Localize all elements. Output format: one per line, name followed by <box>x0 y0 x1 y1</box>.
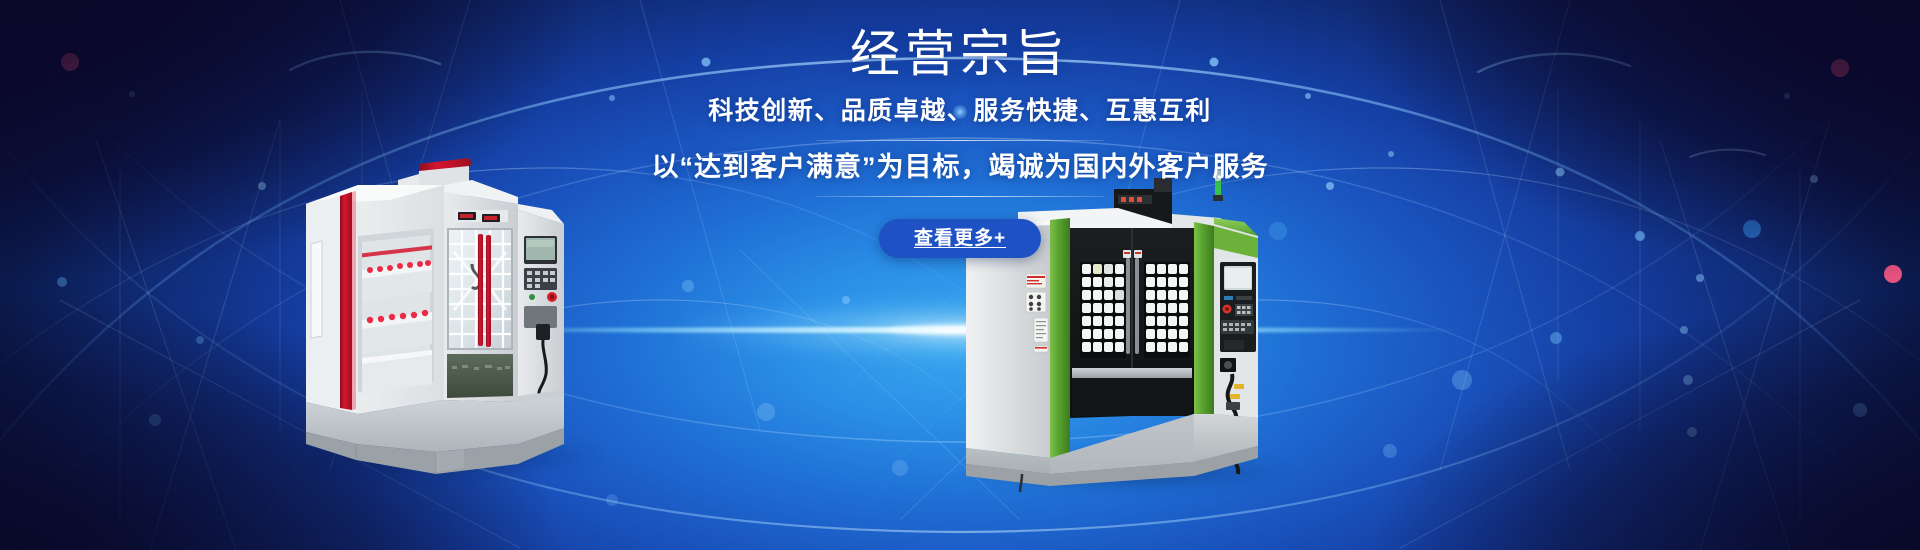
banner-tagline: 以“达到客户满意”为目标，竭诚为国内外客户服务 <box>0 141 1920 181</box>
hero-banner: 经营宗旨 科技创新、品质卓越、服务快捷、互惠互利 以“达到客户满意”为目标，竭诚… <box>0 0 1920 550</box>
view-more-button[interactable]: 查看更多+ <box>879 219 1041 258</box>
page-title: 经营宗旨 <box>0 0 1920 79</box>
banner-content: 经营宗旨 科技创新、品质卓越、服务快捷、互惠互利 以“达到客户满意”为目标，竭诚… <box>0 0 1920 258</box>
banner-subtitle: 科技创新、品质卓越、服务快捷、互惠互利 <box>0 79 1920 124</box>
divider-bottom <box>816 196 1104 197</box>
